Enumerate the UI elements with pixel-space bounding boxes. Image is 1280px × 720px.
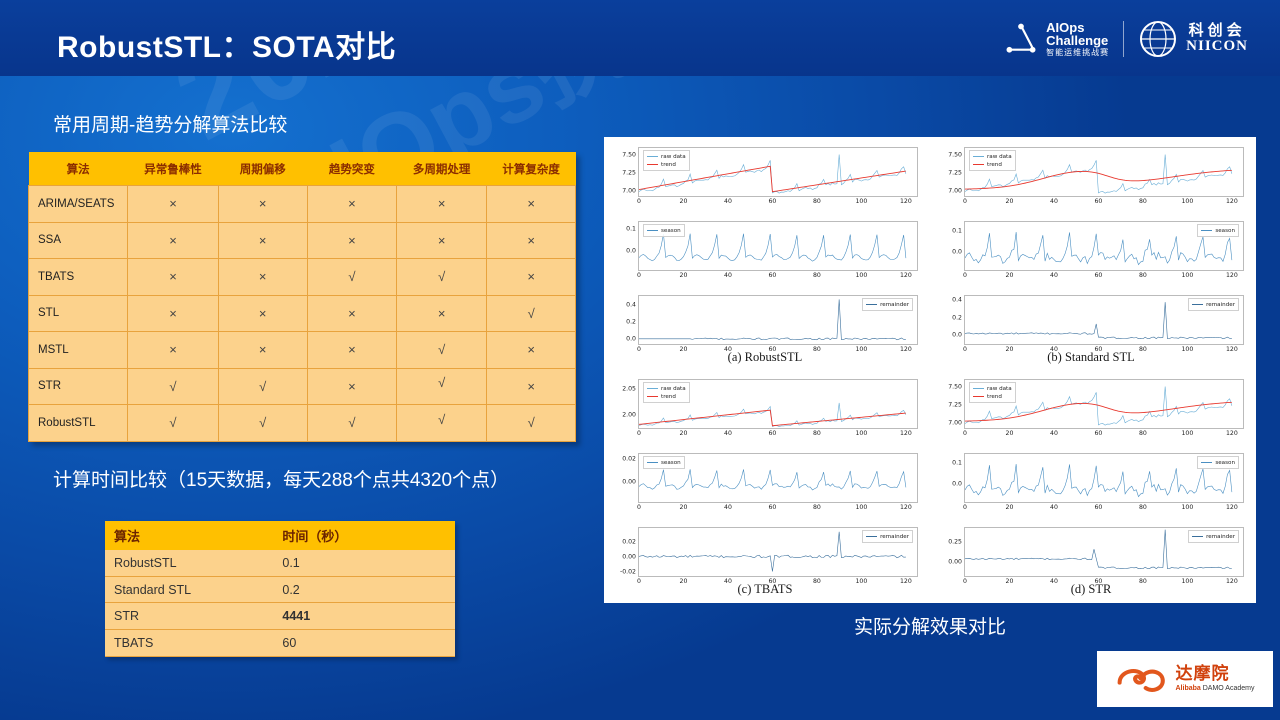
y-tick-label: 0.1 — [626, 225, 636, 232]
legend-item: remainder — [1192, 533, 1235, 541]
plot-area: 7.007.257.50020406080100120raw datatrend — [964, 147, 1244, 197]
damo-academy-logo: 达摩院 Alibaba DAMO Academy — [1097, 651, 1273, 707]
legend-label: trend — [661, 393, 676, 401]
x-tick-label: 80 — [813, 198, 821, 205]
x-tick-label: 120 — [900, 272, 912, 279]
table-row: Standard STL0.2 — [105, 576, 455, 603]
subplot-trend: 7.007.257.50020406080100120raw datatrend — [964, 147, 1244, 197]
support-cell: × — [307, 222, 396, 259]
legend-label: remainder — [880, 533, 909, 541]
y-tick-label: 0.02 — [622, 455, 636, 462]
support-cell: √ — [128, 368, 218, 405]
legend-swatch — [647, 164, 658, 166]
y-tick-label: 0.0 — [952, 248, 962, 255]
x-tick-label: 80 — [1139, 198, 1147, 205]
support-cell: √ — [218, 368, 307, 405]
plot-area: 7.007.257.50020406080100120raw datatrend — [638, 147, 918, 197]
x-tick-label: 0 — [637, 198, 641, 205]
support-cell: × — [307, 368, 396, 405]
logo-divider — [1123, 21, 1124, 57]
x-tick-label: 60 — [769, 198, 777, 205]
legend-item: season — [647, 459, 681, 467]
chart-quadrant-d: 7.007.257.50020406080100120raw datatrend… — [930, 371, 1252, 599]
algorithm-name: RobustSTL — [29, 405, 128, 442]
x-tick-label: 100 — [855, 504, 867, 511]
support-cell: √ — [397, 405, 487, 442]
y-tick-label: 0.0 — [952, 480, 962, 487]
niicon-logo-text: 科创会 NIICON — [1186, 23, 1248, 55]
support-cell: √ — [307, 405, 396, 442]
legend: raw datatrend — [969, 150, 1016, 171]
x-tick-label: 100 — [1181, 198, 1193, 205]
cross-icon: × — [527, 379, 535, 394]
cross-icon: × — [169, 306, 177, 321]
quadrant-caption: (c) TBATS — [604, 582, 926, 597]
damo-en-rest: DAMO Academy — [1201, 685, 1255, 692]
chart-panel-caption: 实际分解效果对比 — [604, 612, 1256, 639]
aiops-line-2: Challenge — [1046, 34, 1109, 48]
cross-icon: × — [348, 196, 356, 211]
plot-area: 0.000.25020406080100120remainder — [964, 527, 1244, 577]
damo-swirl-icon — [1116, 662, 1170, 696]
slide: 2021国际 AIOps挑战赛 RobustSTL：SOTA对比 AIOps C… — [0, 0, 1280, 720]
x-tick-label: 100 — [1181, 272, 1193, 279]
cross-icon: × — [438, 196, 446, 211]
support-cell: × — [397, 295, 487, 332]
support-cell: √ — [218, 405, 307, 442]
y-tick-label: 2.00 — [622, 412, 636, 419]
aiops-triangle-icon — [1003, 22, 1039, 56]
x-tick-label: 0 — [963, 272, 967, 279]
aiops-challenge-logo: AIOps Challenge 智能运维挑战赛 — [1003, 21, 1109, 57]
legend-swatch — [1201, 230, 1212, 232]
x-tick-label: 20 — [680, 198, 688, 205]
x-tick-label: 100 — [855, 198, 867, 205]
x-tick-label: 60 — [769, 272, 777, 279]
x-tick-label: 0 — [637, 272, 641, 279]
cross-icon: × — [169, 233, 177, 248]
legend-item: trend — [973, 393, 1012, 401]
cross-icon: × — [348, 233, 356, 248]
legend-item: remainder — [866, 533, 909, 541]
legend: raw datatrend — [643, 150, 690, 171]
legend-item: raw data — [647, 385, 686, 393]
table-row: SSA××××× — [29, 222, 576, 259]
support-cell: × — [307, 332, 396, 369]
check-icon: √ — [169, 379, 176, 394]
x-tick-label: 20 — [1006, 430, 1014, 437]
y-tick-label: 0.4 — [952, 297, 962, 304]
legend-swatch — [866, 536, 877, 538]
plot-area: 0.00.20.4020406080100120remainder — [638, 295, 918, 345]
legend-label: raw data — [987, 385, 1012, 393]
cross-icon: × — [169, 269, 177, 284]
y-tick-label: -0.02 — [620, 568, 636, 575]
algorithm-name: STR — [29, 368, 128, 405]
aiops-line-3: 智能运维挑战赛 — [1046, 49, 1109, 57]
column-header: 时间（秒） — [273, 521, 455, 550]
timing-table: 算法时间（秒） RobustSTL0.1Standard STL0.2STR44… — [105, 521, 455, 657]
legend: season — [1197, 224, 1239, 237]
x-tick-label: 40 — [1050, 198, 1058, 205]
algorithm-name: TBATS — [105, 630, 273, 657]
subplot-season: 0.00.1020406080100120season — [638, 221, 918, 271]
check-icon: √ — [169, 415, 176, 430]
y-tick-label: 7.25 — [948, 170, 962, 177]
niicon-en: NIICON — [1186, 39, 1248, 55]
support-cell: √ — [307, 259, 396, 296]
legend-label: trend — [661, 161, 676, 169]
subplot-season: 0.000.02020406080100120season — [638, 453, 918, 503]
cross-icon: × — [348, 306, 356, 321]
cross-icon: × — [527, 269, 535, 284]
x-tick-label: 60 — [769, 504, 777, 511]
x-tick-label: 40 — [724, 198, 732, 205]
x-tick-label: 20 — [680, 272, 688, 279]
cross-icon: × — [348, 379, 356, 394]
x-tick-label: 80 — [813, 430, 821, 437]
y-tick-label: 0.00 — [622, 553, 636, 560]
cross-icon: × — [527, 342, 535, 357]
legend-label: remainder — [1206, 533, 1235, 541]
column-header: 算法 — [29, 152, 128, 186]
check-icon: √ — [348, 415, 355, 430]
x-tick-label: 120 — [900, 198, 912, 205]
cross-icon: × — [527, 233, 535, 248]
x-tick-label: 40 — [1050, 430, 1058, 437]
cross-icon: × — [438, 306, 446, 321]
legend: season — [1197, 456, 1239, 469]
x-tick-label: 80 — [813, 504, 821, 511]
damo-en: Alibaba DAMO Academy — [1176, 685, 1255, 692]
chart-quadrant-a: 7.007.257.50020406080100120raw datatrend… — [604, 139, 926, 367]
algorithm-name: RobustSTL — [105, 550, 273, 576]
damo-logo-text: 达摩院 Alibaba DAMO Academy — [1176, 666, 1255, 692]
comparison-table-title: 常用周期-趋势分解算法比较 — [53, 110, 287, 137]
y-tick-label: 0.25 — [948, 538, 962, 545]
support-cell: × — [128, 259, 218, 296]
x-tick-label: 60 — [1095, 272, 1103, 279]
cross-icon: × — [169, 342, 177, 357]
cross-icon: × — [259, 196, 267, 211]
table-row: STL××××√ — [29, 295, 576, 332]
subplot-season: 0.00.1020406080100120season — [964, 221, 1244, 271]
cross-icon: × — [348, 342, 356, 357]
plot-area: -0.020.000.02020406080100120remainder — [638, 527, 918, 577]
legend: raw datatrend — [969, 382, 1016, 403]
niicon-cn: 科创会 — [1186, 23, 1248, 39]
subplot-remainder: 0.000.25020406080100120remainder — [964, 527, 1244, 577]
x-tick-label: 80 — [813, 272, 821, 279]
support-cell: × — [128, 222, 218, 259]
cross-icon: × — [438, 233, 446, 248]
time-value: 60 — [273, 630, 455, 657]
check-icon: √ — [259, 415, 266, 430]
y-tick-label: 0.0 — [626, 335, 636, 342]
legend: season — [643, 456, 685, 469]
support-cell: × — [218, 186, 307, 223]
legend-swatch — [647, 396, 658, 398]
column-header: 趋势突变 — [307, 152, 396, 186]
support-cell: √ — [128, 405, 218, 442]
legend-label: remainder — [880, 301, 909, 309]
x-tick-label: 80 — [1139, 272, 1147, 279]
legend-swatch — [1201, 462, 1212, 464]
x-tick-label: 40 — [1050, 272, 1058, 279]
check-icon: √ — [348, 269, 355, 284]
y-tick-label: 7.25 — [622, 170, 636, 177]
table-row: STR√√×√× — [29, 368, 576, 405]
time-value: 0.1 — [273, 550, 455, 576]
support-cell: × — [218, 222, 307, 259]
table-row: RobustSTL0.1 — [105, 550, 455, 576]
plot-area: 0.00.1020406080100120season — [964, 221, 1244, 271]
legend-swatch — [1192, 536, 1203, 538]
niicon-logo: 科创会 NIICON — [1138, 19, 1248, 59]
table-row: MSTL×××√× — [29, 332, 576, 369]
subplot-remainder: -0.020.000.02020406080100120remainder — [638, 527, 918, 577]
x-tick-label: 40 — [724, 430, 732, 437]
column-header: 计算复杂度 — [487, 152, 576, 186]
support-cell: √ — [397, 368, 487, 405]
check-icon: √ — [528, 415, 535, 430]
support-cell: × — [307, 186, 396, 223]
legend: remainder — [862, 298, 913, 311]
support-cell: × — [218, 332, 307, 369]
y-tick-label: 7.00 — [948, 419, 962, 426]
x-tick-label: 60 — [769, 430, 777, 437]
x-tick-label: 120 — [1226, 504, 1238, 511]
x-tick-label: 80 — [1139, 430, 1147, 437]
y-tick-label: 7.00 — [948, 187, 962, 194]
x-tick-label: 100 — [1181, 504, 1193, 511]
legend-item: season — [1201, 459, 1235, 467]
y-tick-label: 0.1 — [952, 227, 962, 234]
y-tick-label: 7.50 — [948, 384, 962, 391]
x-tick-label: 60 — [1095, 198, 1103, 205]
check-icon: √ — [438, 342, 445, 357]
algorithm-name: STL — [29, 295, 128, 332]
legend-swatch — [973, 388, 984, 390]
legend-label: season — [661, 227, 681, 235]
legend-item: raw data — [973, 385, 1012, 393]
column-header: 算法 — [105, 521, 273, 550]
support-cell: × — [487, 222, 576, 259]
legend-item: remainder — [1192, 301, 1235, 309]
x-tick-label: 20 — [1006, 272, 1014, 279]
x-tick-label: 0 — [637, 430, 641, 437]
chart-quadrant-c: 2.002.05020406080100120raw datatrend0.00… — [604, 371, 926, 599]
legend-label: season — [1215, 459, 1235, 467]
header-logos: AIOps Challenge 智能运维挑战赛 科创会 NIICON — [1003, 16, 1248, 62]
legend: remainder — [862, 530, 913, 543]
time-value: 4441 — [273, 603, 455, 630]
cross-icon: × — [169, 196, 177, 211]
legend-item: remainder — [866, 301, 909, 309]
cross-icon: × — [527, 196, 535, 211]
legend-swatch — [647, 230, 658, 232]
legend-label: remainder — [1206, 301, 1235, 309]
y-tick-label: 0.4 — [626, 301, 636, 308]
cross-icon: × — [259, 342, 267, 357]
legend-item: season — [1201, 227, 1235, 235]
support-cell: × — [487, 368, 576, 405]
check-icon: √ — [438, 269, 445, 284]
support-cell: √ — [397, 332, 487, 369]
legend-label: raw data — [661, 385, 686, 393]
support-cell: × — [128, 332, 218, 369]
plot-area: 2.002.05020406080100120raw datatrend — [638, 379, 918, 429]
cross-icon: × — [259, 306, 267, 321]
y-tick-label: 2.05 — [622, 386, 636, 393]
legend-swatch — [973, 156, 984, 158]
x-tick-label: 20 — [680, 430, 688, 437]
legend-item: trend — [973, 161, 1012, 169]
legend: season — [643, 224, 685, 237]
x-tick-label: 100 — [855, 430, 867, 437]
support-cell: √ — [487, 295, 576, 332]
x-tick-label: 120 — [1226, 430, 1238, 437]
subplot-trend: 7.007.257.50020406080100120raw datatrend — [638, 147, 918, 197]
algorithm-name: Standard STL — [105, 576, 273, 603]
support-cell: √ — [487, 405, 576, 442]
legend-label: raw data — [987, 153, 1012, 161]
support-cell: × — [307, 295, 396, 332]
algorithm-name: MSTL — [29, 332, 128, 369]
plot-area: 0.00.20.4020406080100120remainder — [964, 295, 1244, 345]
x-tick-label: 120 — [1226, 272, 1238, 279]
column-header: 多周期处理 — [397, 152, 487, 186]
legend: remainder — [1188, 298, 1239, 311]
algorithm-name: ARIMA/SEATS — [29, 186, 128, 223]
x-tick-label: 20 — [1006, 504, 1014, 511]
support-cell: × — [218, 259, 307, 296]
legend-label: raw data — [661, 153, 686, 161]
x-tick-label: 120 — [900, 504, 912, 511]
damo-en-bold: Alibaba — [1176, 685, 1201, 692]
globe-icon — [1138, 19, 1178, 59]
decomposition-chart-panel: 7.007.257.50020406080100120raw datatrend… — [604, 137, 1256, 603]
subplot-remainder: 0.00.20.4020406080100120remainder — [638, 295, 918, 345]
y-tick-label: 0.2 — [952, 314, 962, 321]
x-tick-label: 0 — [963, 504, 967, 511]
time-value: 0.2 — [273, 576, 455, 603]
x-tick-label: 40 — [724, 504, 732, 511]
check-icon: √ — [438, 412, 445, 427]
legend-swatch — [647, 156, 658, 158]
y-tick-label: 7.50 — [622, 152, 636, 159]
x-tick-label: 0 — [963, 430, 967, 437]
x-tick-label: 60 — [1095, 504, 1103, 511]
table-row: STR4441 — [105, 603, 455, 630]
column-header: 异常鲁棒性 — [128, 152, 218, 186]
slide-header: RobustSTL：SOTA对比 AIOps Challenge 智能运维挑战赛 — [0, 0, 1280, 76]
plot-area: 0.000.02020406080100120season — [638, 453, 918, 503]
support-cell: × — [128, 295, 218, 332]
check-icon: √ — [259, 379, 266, 394]
x-tick-label: 120 — [1226, 198, 1238, 205]
legend-swatch — [647, 388, 658, 390]
table-row: TBATS60 — [105, 630, 455, 657]
x-tick-label: 20 — [680, 504, 688, 511]
algorithm-name: STR — [105, 603, 273, 630]
legend-item: raw data — [647, 153, 686, 161]
legend-swatch — [973, 396, 984, 398]
table-row: RobustSTL√√√√√ — [29, 405, 576, 442]
timing-table-title: 计算时间比较（15天数据，每天288个点共4320个点） — [53, 465, 509, 492]
legend-swatch — [1192, 304, 1203, 306]
y-tick-label: 7.25 — [948, 402, 962, 409]
legend: raw datatrend — [643, 382, 690, 403]
comparison-table: 算法异常鲁棒性周期偏移趋势突变多周期处理计算复杂度 ARIMA/SEATS×××… — [28, 152, 576, 442]
quadrant-caption: (a) RobustSTL — [604, 350, 926, 365]
algorithm-name: TBATS — [29, 259, 128, 296]
support-cell: × — [397, 186, 487, 223]
subplot-remainder: 0.00.20.4020406080100120remainder — [964, 295, 1244, 345]
support-cell: × — [487, 186, 576, 223]
damo-cn: 达摩院 — [1176, 666, 1255, 684]
y-tick-label: 0.00 — [948, 559, 962, 566]
support-cell: × — [397, 222, 487, 259]
y-tick-label: 0.1 — [952, 459, 962, 466]
aiops-line-1: AIOps — [1046, 21, 1109, 35]
subplot-trend: 7.007.257.50020406080100120raw datatrend — [964, 379, 1244, 429]
plot-area: 7.007.257.50020406080100120raw datatrend — [964, 379, 1244, 429]
y-tick-label: 7.50 — [948, 152, 962, 159]
legend-swatch — [647, 462, 658, 464]
quadrant-caption: (d) STR — [930, 582, 1252, 597]
legend: remainder — [1188, 530, 1239, 543]
legend-label: trend — [987, 393, 1002, 401]
x-tick-label: 100 — [855, 272, 867, 279]
x-tick-label: 0 — [963, 198, 967, 205]
y-tick-label: 0.00 — [622, 479, 636, 486]
legend-item: trend — [647, 393, 686, 401]
cross-icon: × — [259, 233, 267, 248]
y-tick-label: 0.0 — [952, 332, 962, 339]
column-header: 周期偏移 — [218, 152, 307, 186]
y-tick-label: 0.0 — [626, 248, 636, 255]
y-tick-label: 7.00 — [622, 187, 636, 194]
plot-area: 0.00.1020406080100120season — [638, 221, 918, 271]
table-row: TBATS××√√× — [29, 259, 576, 296]
page-title: RobustSTL：SOTA对比 — [57, 22, 396, 66]
x-tick-label: 40 — [724, 272, 732, 279]
table-row: ARIMA/SEATS××××× — [29, 186, 576, 223]
legend-label: trend — [987, 161, 1002, 169]
x-tick-label: 20 — [1006, 198, 1014, 205]
y-tick-label: 0.2 — [626, 318, 636, 325]
quadrant-caption: (b) Standard STL — [930, 350, 1252, 365]
legend-label: season — [661, 459, 681, 467]
check-icon: √ — [438, 375, 445, 390]
x-tick-label: 80 — [1139, 504, 1147, 511]
subplot-season: 0.00.1020406080100120season — [964, 453, 1244, 503]
support-cell: × — [128, 186, 218, 223]
x-tick-label: 100 — [1181, 430, 1193, 437]
legend-item: raw data — [973, 153, 1012, 161]
chart-quadrant-b: 7.007.257.50020406080100120raw datatrend… — [930, 139, 1252, 367]
x-tick-label: 40 — [1050, 504, 1058, 511]
support-cell: √ — [397, 259, 487, 296]
legend-label: season — [1215, 227, 1235, 235]
cross-icon: × — [259, 269, 267, 284]
legend-item: trend — [647, 161, 686, 169]
support-cell: × — [218, 295, 307, 332]
subplot-trend: 2.002.05020406080100120raw datatrend — [638, 379, 918, 429]
check-icon: √ — [528, 306, 535, 321]
legend-swatch — [973, 164, 984, 166]
